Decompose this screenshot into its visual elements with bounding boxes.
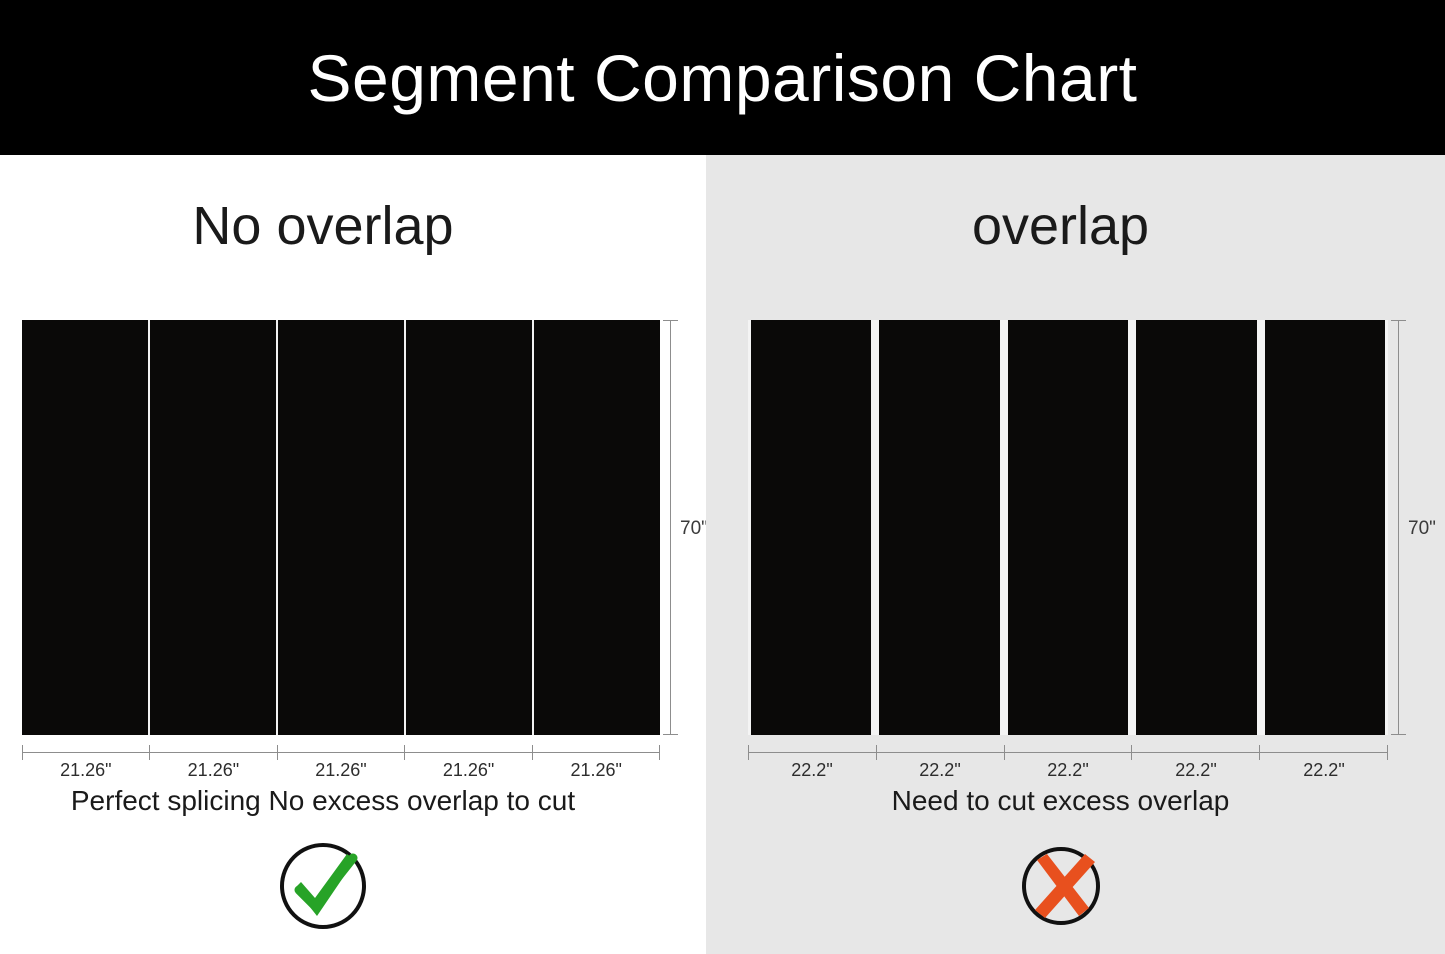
left-width-labels: 21.26" 21.26" 21.26" 21.26" 21.26" xyxy=(22,760,660,781)
width-label: 22.2" xyxy=(1260,760,1388,781)
right-verdict xyxy=(706,838,1445,934)
width-label: 21.26" xyxy=(405,760,533,781)
left-height-dimension-line: 70" xyxy=(670,320,671,735)
segment xyxy=(1006,320,1134,735)
right-panel-heading: overlap xyxy=(706,195,1445,257)
width-label: 22.2" xyxy=(1004,760,1132,781)
segment xyxy=(534,320,660,735)
cross-circle-icon xyxy=(1013,838,1109,934)
segment xyxy=(278,320,406,735)
width-label: 21.26" xyxy=(22,760,150,781)
right-width-labels: 22.2" 22.2" 22.2" 22.2" 22.2" xyxy=(748,760,1388,781)
width-label: 21.26" xyxy=(532,760,660,781)
segment xyxy=(748,320,877,735)
width-label: 22.2" xyxy=(748,760,876,781)
left-height-label: 70" xyxy=(680,518,708,540)
right-caption: Need to cut excess overlap xyxy=(706,785,1445,817)
panel-no-overlap: No overlap xyxy=(0,155,706,954)
segment xyxy=(877,320,1005,735)
comparison-body: No overlap xyxy=(0,155,1445,954)
right-width-dimension-line xyxy=(748,752,1388,753)
panel-overlap: overlap xyxy=(706,155,1445,954)
segment xyxy=(406,320,534,735)
left-verdict xyxy=(0,838,706,934)
width-label: 22.2" xyxy=(1132,760,1260,781)
segment xyxy=(22,320,150,735)
left-width-dimension-line xyxy=(22,752,660,753)
title-banner: Segment Comparison Chart xyxy=(0,0,1445,155)
left-mural-stage: 70" 21.26" 21.26" 21.26" 21.26" 21.26" xyxy=(22,320,660,735)
width-label: 21.26" xyxy=(277,760,405,781)
left-segment-grid xyxy=(22,320,660,735)
segment-comparison-page: Segment Comparison Chart No overlap xyxy=(0,0,1445,954)
width-label: 22.2" xyxy=(876,760,1004,781)
right-mural-stage: 70" 22.2" 22.2" 22.2" 22.2" 22.2" xyxy=(748,320,1388,735)
right-height-label: 70" xyxy=(1408,518,1436,540)
check-circle-icon xyxy=(275,838,371,934)
left-caption: Perfect splicing No excess overlap to cu… xyxy=(0,785,706,817)
width-label: 21.26" xyxy=(150,760,278,781)
segment xyxy=(1263,320,1388,735)
right-height-dimension-line: 70" xyxy=(1398,320,1399,735)
segment xyxy=(150,320,278,735)
segment xyxy=(1134,320,1262,735)
right-segment-grid xyxy=(748,320,1388,735)
page-title: Segment Comparison Chart xyxy=(307,40,1137,116)
left-panel-heading: No overlap xyxy=(0,195,706,257)
